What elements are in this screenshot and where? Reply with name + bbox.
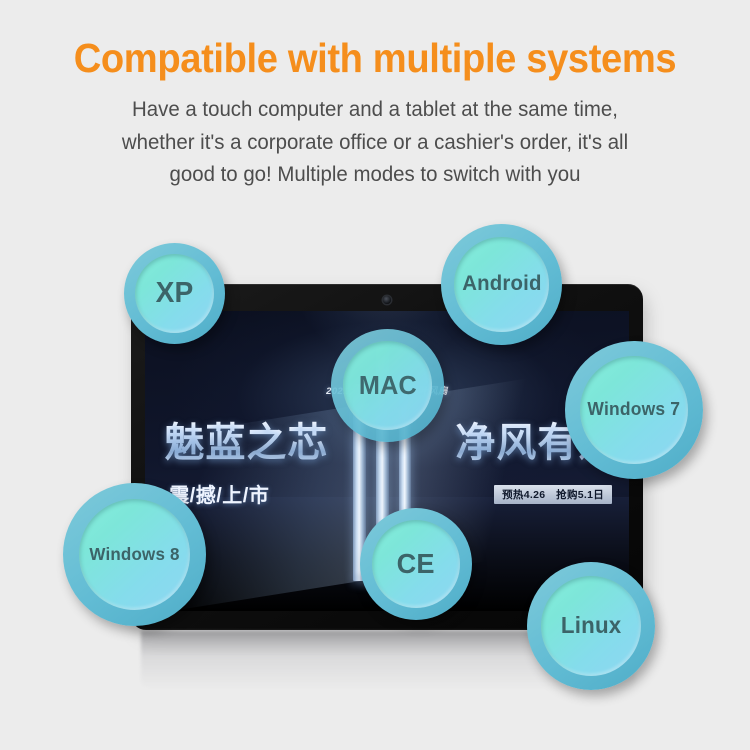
subtitle-line-3: good to go! Multiple modes to switch wit… <box>62 158 689 191</box>
page-subtitle: Have a touch computer and a tablet at th… <box>62 93 689 191</box>
subtitle-line-2: whether it's a corporate office or a cas… <box>62 126 689 159</box>
badge-label: XP <box>156 277 194 310</box>
badge-face: MAC <box>343 341 431 429</box>
ad-headline-left: 魅蓝之芯 <box>164 410 328 468</box>
badge-face: XP <box>135 254 214 333</box>
badge-face: CE <box>372 520 459 607</box>
os-badge-ce[interactable]: CE <box>360 508 472 620</box>
front-camera-icon <box>383 296 391 304</box>
promo-banner: Compatible with multiple systems Have a … <box>0 0 750 750</box>
ad-promo-banner: 预热4.26 抢购5.1日 <box>494 485 612 504</box>
badge-label: Windows 7 <box>588 399 681 420</box>
badge-face: Windows 8 <box>79 499 191 611</box>
os-badge-windows-7[interactable]: Windows 7 <box>565 341 703 479</box>
badge-label: Linux <box>561 612 621 639</box>
os-badge-android[interactable]: Android <box>441 224 562 345</box>
os-badge-mac[interactable]: MAC <box>331 329 444 442</box>
page-title: Compatible with multiple systems <box>26 34 724 82</box>
badge-label: Android <box>462 272 541 296</box>
badge-face: Linux <box>541 576 641 676</box>
subtitle-line-1: Have a touch computer and a tablet at th… <box>62 93 689 126</box>
badge-label: MAC <box>358 370 416 401</box>
badge-face: Android <box>454 237 548 331</box>
badge-label: CE <box>397 548 435 580</box>
badge-label: Windows 8 <box>89 544 179 565</box>
badge-face: Windows 7 <box>580 356 688 464</box>
os-badge-linux[interactable]: Linux <box>527 562 655 690</box>
os-badge-windows-8[interactable]: Windows 8 <box>63 483 206 626</box>
os-badge-xp[interactable]: XP <box>124 243 225 344</box>
